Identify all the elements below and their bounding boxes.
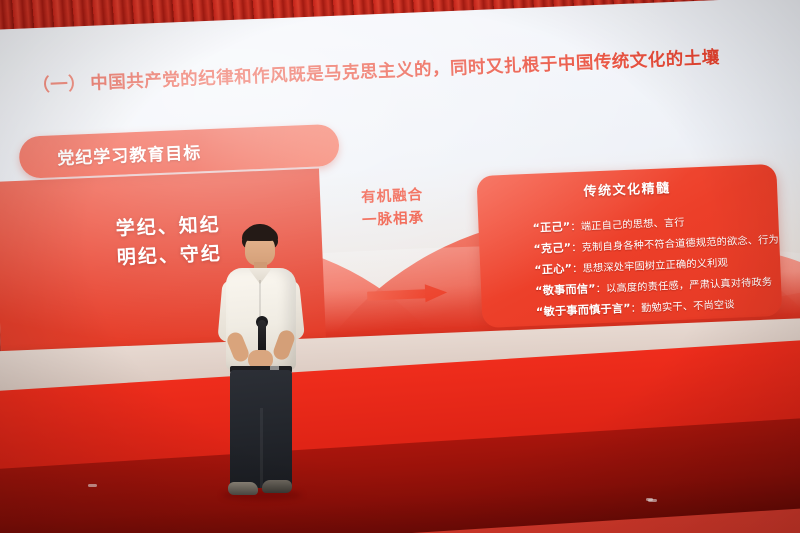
photo-scene: （一）中国共产党的纪律和作风既是马克思主义的，同时又扎根于中国传统文化的土壤 党… [0, 0, 800, 533]
slide-center-text: 有机融合 一脉相承 [361, 184, 425, 233]
list-item-term: “敬事而信” [535, 282, 596, 297]
slide-center-line2: 一脉相承 [362, 207, 425, 233]
slide-right-panel-title: 传统文化精髓 [477, 173, 778, 204]
slide-heading-text: 中国共产党的纪律和作风既是马克思主义的，同时又扎根于中国传统文化的土壤 [90, 48, 720, 94]
slide-heading: （一）中国共产党的纪律和作风既是马克思主义的，同时又扎根于中国传统文化的土壤 [32, 42, 772, 97]
slide-right-panel-list: “正己”：端正自己的思想、言行 “克己”：克制自身各种不符合道德规范的欲念、行为… [492, 209, 772, 325]
speaker-leg-split [260, 408, 263, 488]
speaker [214, 224, 306, 509]
arrow-shaft [367, 289, 429, 301]
list-item-desc: ：以高度的责任感，严肃认真对待政务 [596, 277, 773, 295]
list-item-desc: ：勤勉实干、不尚空谈 [631, 300, 735, 315]
microphone-body [258, 320, 266, 354]
slide-right-panel: 传统文化精髓 “正己”：端正自己的思想、言行 “克己”：克制自身各种不符合道德规… [476, 164, 782, 328]
list-item-desc: ：克制自身各种不符合道德规范的欲念、行为 [571, 235, 779, 255]
floor-speck [88, 484, 97, 487]
speaker-right-shoe [262, 480, 292, 493]
slide-heading-number: （一） [32, 74, 87, 96]
list-item-term: “克己” [533, 241, 571, 256]
speaker-hair-front [242, 228, 278, 241]
list-item-desc: ：端正自己的思想、言行 [570, 218, 685, 234]
list-item-term: “敏于事而慎于言” [536, 302, 631, 319]
speaker-left-shoe [228, 482, 258, 495]
floor-speck [648, 499, 657, 502]
list-item-term: “正己” [532, 220, 570, 235]
arrow-right-icon [367, 284, 454, 304]
list-item-desc: ：思想深处牢固树立正确的义利观 [572, 258, 728, 275]
slide-center-line1: 有机融合 [361, 184, 424, 210]
arrow-head [425, 283, 448, 302]
slide-goal-banner-label: 党纪学习教育目标 [57, 138, 202, 169]
list-item-term: “正心” [534, 262, 572, 277]
